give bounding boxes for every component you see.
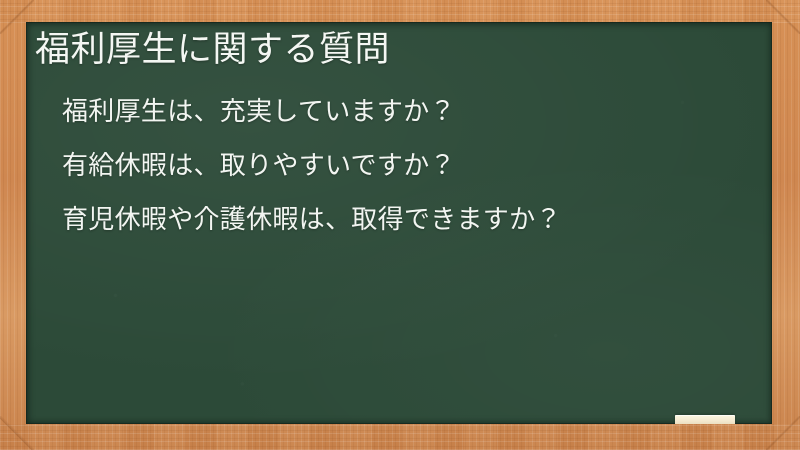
blackboard-slide: 福利厚生に関する質問 福利厚生は、充実していますか？ 有給休暇は、取りやすいです… [0,0,800,450]
frame-top-rail-grain [0,0,800,23]
chalk-eraser-icon [675,415,735,424]
list-item: 有給休暇は、取りやすいですか？ [62,152,752,178]
chalkboard-surface: 福利厚生に関する質問 福利厚生は、充実していますか？ 有給休暇は、取りやすいです… [26,22,772,424]
chalkboard-content: 福利厚生に関する質問 福利厚生は、充実していますか？ 有給休暇は、取りやすいです… [26,22,772,424]
list-item: 福利厚生は、充実していますか？ [62,98,752,124]
page-title: 福利厚生に関する質問 [35,28,390,72]
frame-bottom-rail-grain [0,424,800,450]
question-list: 福利厚生は、充実していますか？ 有給休暇は、取りやすいですか？ 育児休暇や介護休… [62,98,752,232]
list-item: 育児休暇や介護休暇は、取得できますか？ [62,206,752,232]
